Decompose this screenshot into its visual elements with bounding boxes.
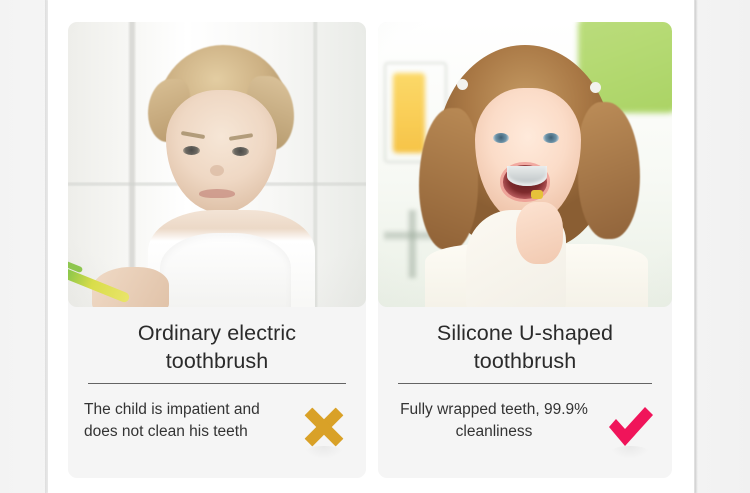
photo-detail bbox=[493, 133, 509, 143]
comparison-card-silicone[interactable]: Silicone U-shaped toothbrush Fully wrapp… bbox=[378, 22, 672, 478]
check-icon bbox=[604, 401, 656, 453]
photo-detail bbox=[393, 73, 425, 153]
card-title-line1: Ordinary electric bbox=[138, 321, 296, 345]
page-canvas: Ordinary electric toothbrush The child i… bbox=[0, 0, 750, 493]
photo-detail bbox=[210, 165, 224, 176]
card-detail-ordinary: The child is impatient and does not clea… bbox=[84, 399, 292, 443]
card-text-block: Ordinary electric toothbrush The child i… bbox=[68, 307, 366, 478]
photo-detail bbox=[578, 102, 640, 239]
card-title-line1: Silicone U-shaped bbox=[437, 321, 613, 345]
card-text-block: Silicone U-shaped toothbrush Fully wrapp… bbox=[378, 307, 672, 478]
comparison-card-ordinary[interactable]: Ordinary electric toothbrush The child i… bbox=[68, 22, 366, 478]
card-detail-row: The child is impatient and does not clea… bbox=[84, 399, 350, 453]
card-title-line2: toothbrush bbox=[166, 349, 269, 373]
photo-detail bbox=[183, 146, 200, 155]
photo-detail bbox=[516, 202, 563, 265]
card-title-line2: toothbrush bbox=[474, 349, 577, 373]
title-divider bbox=[398, 383, 652, 384]
cross-icon bbox=[298, 401, 350, 453]
card-title-ordinary: Ordinary electric toothbrush bbox=[84, 319, 350, 375]
photo-detail bbox=[507, 166, 547, 186]
photo-detail bbox=[531, 190, 543, 199]
card-detail-row: Fully wrapped teeth, 99.9% cleanliness bbox=[394, 399, 656, 453]
card-title-silicone: Silicone U-shaped toothbrush bbox=[394, 319, 656, 375]
photo-detail bbox=[419, 108, 478, 251]
product-photo-silicone bbox=[378, 22, 672, 307]
photo-detail bbox=[543, 133, 559, 143]
page-right-edge bbox=[694, 0, 698, 493]
title-divider bbox=[88, 383, 346, 384]
product-photo-ordinary bbox=[68, 22, 366, 307]
photo-detail bbox=[160, 233, 291, 307]
photo-detail bbox=[199, 189, 235, 198]
comparison-row: Ordinary electric toothbrush The child i… bbox=[68, 22, 672, 478]
card-detail-silicone: Fully wrapped teeth, 99.9% cleanliness bbox=[394, 399, 598, 443]
